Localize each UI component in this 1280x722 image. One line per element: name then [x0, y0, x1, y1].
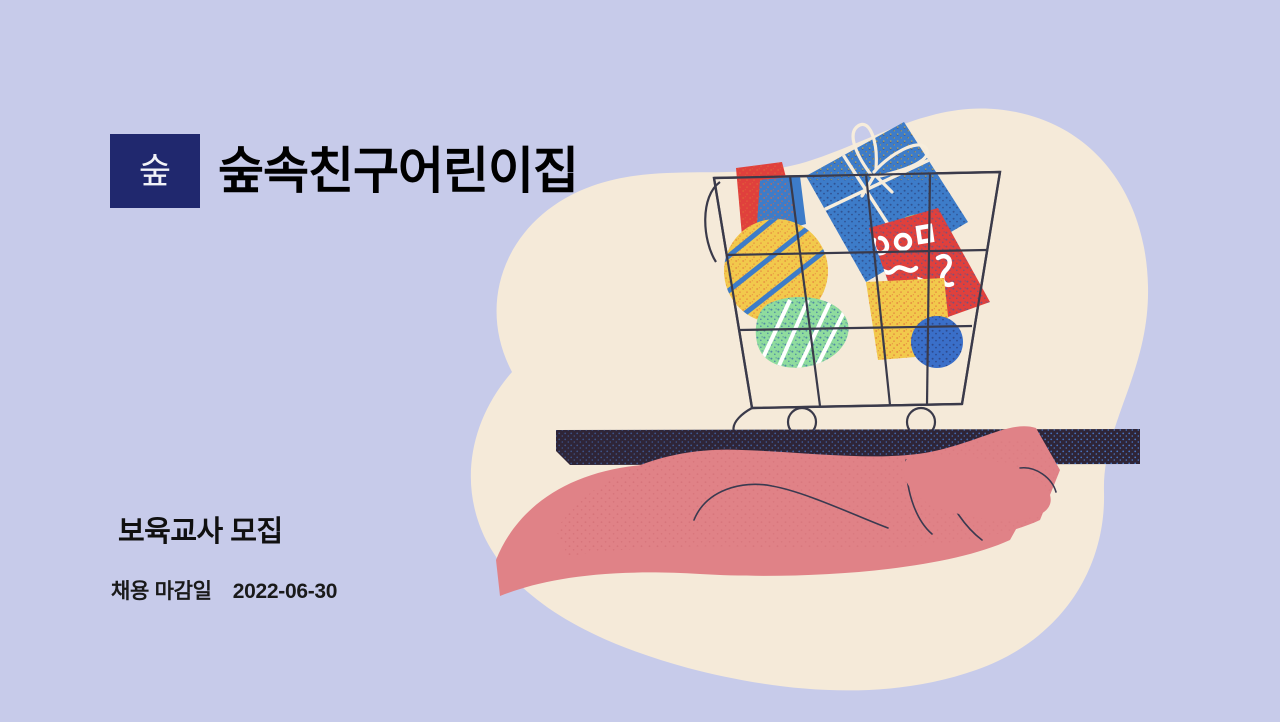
job-headline: 보육교사 모집 [118, 508, 283, 550]
illustration-hand-holding-laptop-with-cart [0, 0, 1280, 722]
page-title: 숲속친구어린이집 [218, 145, 578, 198]
deadline-row: 채용 마감일 2022-06-30 [111, 575, 337, 605]
brand-logo-badge: 숲 [110, 134, 200, 208]
brand-row: 숲 숲속친구어린이집 [110, 134, 578, 208]
deadline-value: 2022-06-30 [233, 580, 337, 603]
deadline-label: 채용 마감일 [111, 580, 212, 603]
job-posting-banner: 숲 숲속친구어린이집 보육교사 모집 채용 마감일 2022-06-30 [0, 0, 1280, 722]
